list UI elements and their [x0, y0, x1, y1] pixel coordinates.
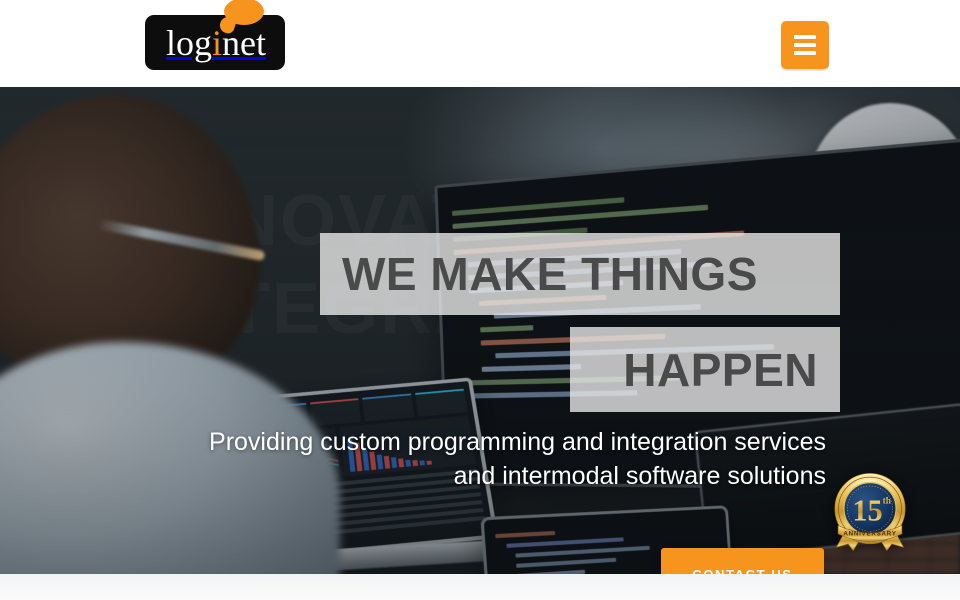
hamburger-menu-button[interactable]: [781, 21, 829, 69]
badge-ordinal: th: [883, 496, 891, 506]
below-fold-section: [0, 574, 960, 600]
anniversary-badge: 15 th ANNIVERSARY: [828, 470, 912, 554]
hamburger-menu-icon-bar-3: [794, 51, 816, 55]
badge-ribbon-text: ANNIVERSARY: [843, 531, 896, 538]
site-logo[interactable]: loginet: [145, 15, 285, 70]
landing-page: loginet INNOVATIVE INTEGRATION: [0, 0, 960, 600]
hero-headline-band-2: HAPPEN: [570, 327, 840, 412]
logo-wordmark: loginet: [164, 24, 266, 62]
site-header: loginet: [0, 0, 960, 87]
hero-section: INNOVATIVE INTEGRATION: [0, 87, 960, 574]
hamburger-menu-icon-bar-2: [794, 43, 816, 47]
hero-headline-line-1: WE MAKE THINGS: [342, 251, 758, 297]
logo-text-before: log: [166, 23, 212, 63]
hero-subtitle: Providing custom programming and integra…: [120, 425, 826, 493]
hero-subtitle-line-1: Providing custom programming and integra…: [120, 425, 826, 459]
anniversary-badge-icon: 15 th ANNIVERSARY: [828, 470, 912, 554]
speech-bubble-icon: [224, 0, 264, 25]
badge-number: 15: [852, 493, 882, 527]
hero-subtitle-line-2: and intermodal software solutions: [120, 459, 826, 493]
hero-headline-band-1: WE MAKE THINGS: [320, 233, 840, 315]
hero-headline-line-2: HAPPEN: [623, 347, 818, 393]
hamburger-menu-icon: [794, 35, 816, 39]
contact-us-button[interactable]: CONTACT US: [661, 548, 824, 574]
hero-content: WE MAKE THINGS HAPPEN Providing custom p…: [0, 87, 960, 574]
